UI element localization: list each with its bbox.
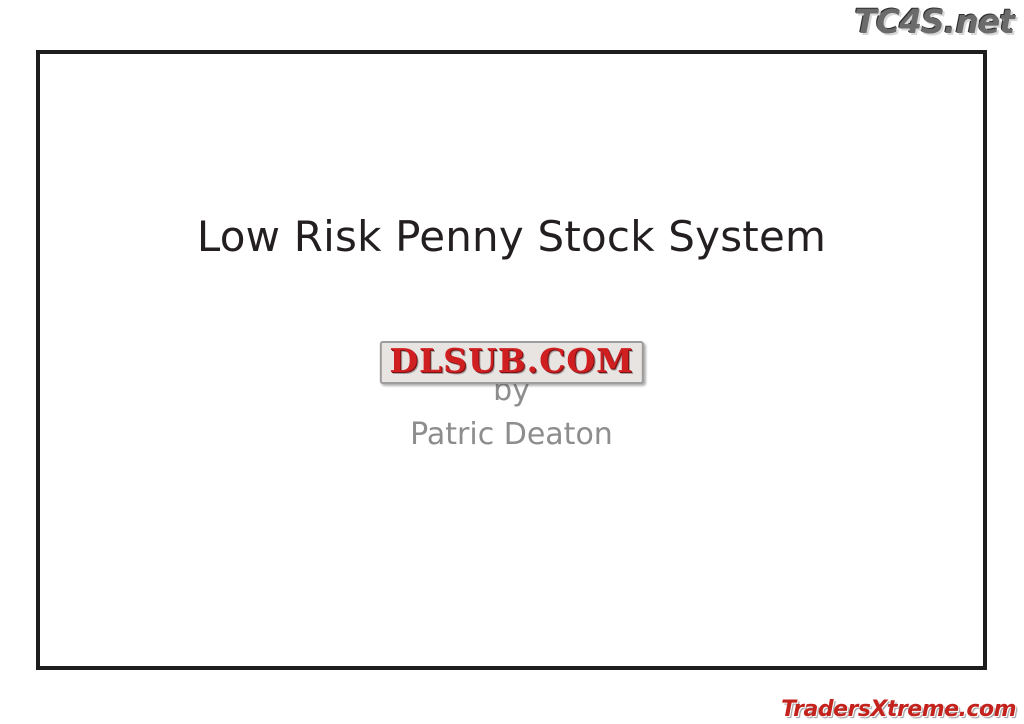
- site-watermark-top: TC4S.net: [854, 2, 1014, 41]
- slide-frame: Low Risk Penny Stock System by Patric De…: [36, 50, 987, 670]
- site-watermark-bottom: TradersXtreme.com: [781, 697, 1016, 722]
- slide-title: Low Risk Penny Stock System: [40, 209, 983, 265]
- slide-author: Patric Deaton: [40, 413, 983, 457]
- dlsub-watermark-stamp: DLSUB.COM: [379, 341, 643, 384]
- slide-content: Low Risk Penny Stock System by Patric De…: [40, 54, 983, 666]
